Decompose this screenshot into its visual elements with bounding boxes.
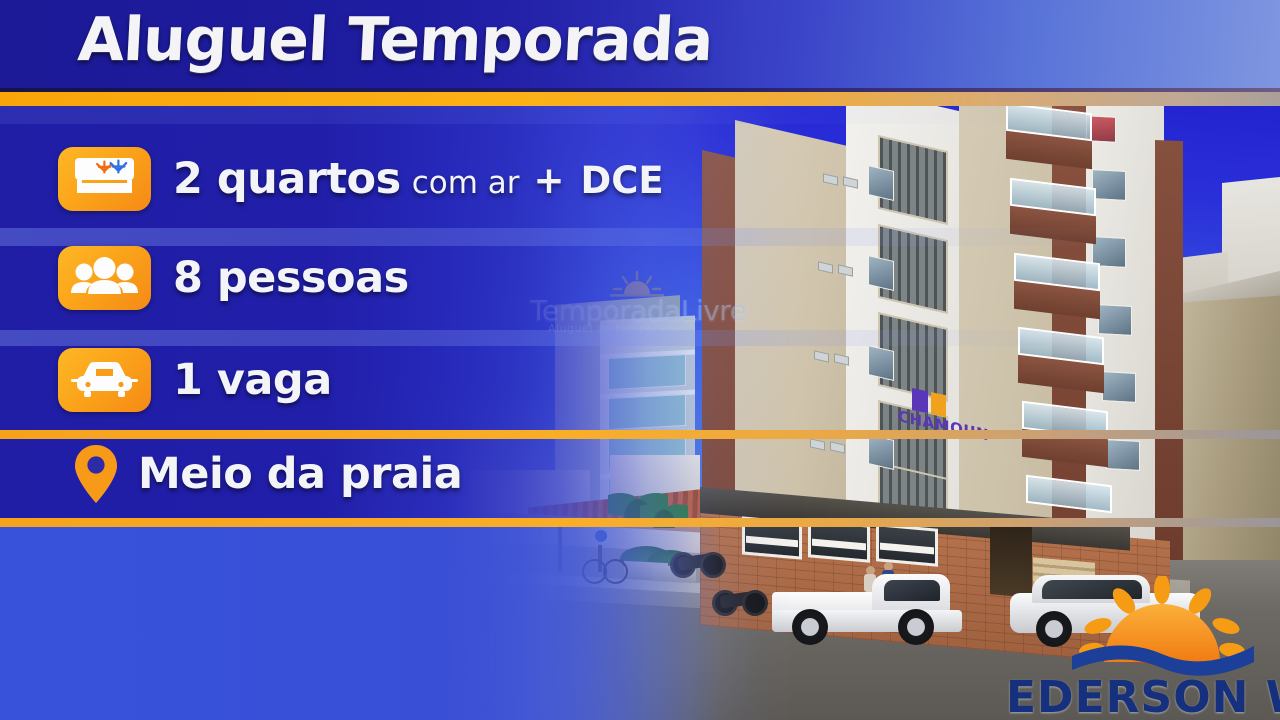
divider-band [0,228,1280,246]
divider-rule-top [0,430,1280,439]
brand-name: EDERSON WIL [1006,672,1280,720]
location-label: Meio da praia [138,449,462,499]
divider-band [0,106,1280,124]
panel-bottom-wash [0,527,720,720]
feature-text-bedrooms: 2 quartos com ar + DCE [173,154,664,204]
feature-text-location: Meio da praia [138,449,462,499]
feature-text-guests: 8 pessoas [173,253,409,303]
air-conditioner-icon [58,147,151,211]
location-pin-icon [68,440,124,508]
sun-over-waves-logo [1062,576,1262,676]
guests-count-label: 8 pessoas [173,253,409,303]
page-title: Aluguel Temporada [76,5,714,75]
brand-logo: EDERSON WIL [1006,576,1280,720]
feature-text-parking: 1 vaga [173,355,332,405]
divider-band [0,330,1280,346]
parking-count-label: 1 vaga [173,355,332,405]
feature-row-guests: 8 pessoas [58,246,409,310]
divider-rule-bottom [0,518,1280,527]
header-accent-rule [0,92,1280,106]
dce-label: DCE [581,159,664,202]
feature-row-bedrooms: 2 quartos com ar + DCE [58,147,664,211]
car-icon [58,348,151,412]
bedrooms-count-label: 2 quartos [173,154,401,204]
plus-symbol: + [534,159,565,202]
people-group-icon [58,246,151,310]
feature-row-location: Meio da praia [68,440,462,508]
promo-banner: CHAMOUN [0,0,1280,720]
bedrooms-ac-label: com ar [412,165,520,201]
feature-row-parking: 1 vaga [58,348,332,412]
